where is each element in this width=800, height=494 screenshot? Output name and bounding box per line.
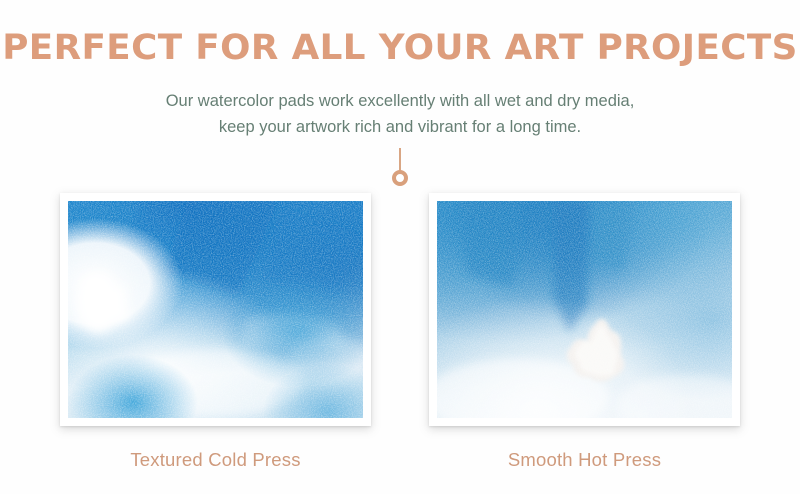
sample-gallery: Textured Cold Press: [0, 193, 800, 471]
photo-frame-left: [60, 193, 371, 426]
divider: [0, 148, 800, 186]
watercolor-swatch-cold-press: [68, 201, 363, 418]
watercolor-swatch-hot-press: [437, 201, 732, 418]
promo-banner: PERFECT FOR ALL YOUR ART PROJECTS Our wa…: [0, 0, 800, 494]
ring-divider-icon: [392, 170, 408, 186]
card-caption-hot-press: Smooth Hot Press: [429, 449, 740, 471]
subtitle: Our watercolor pads work excellently wit…: [0, 88, 800, 140]
divider-stem-icon: [399, 148, 400, 171]
subtitle-line-2: keep your artwork rich and vibrant for a…: [0, 114, 800, 140]
card-smooth-hot-press: Smooth Hot Press: [429, 193, 740, 471]
photo-frame-right: [429, 193, 740, 426]
subtitle-line-1: Our watercolor pads work excellently wit…: [0, 88, 800, 114]
card-caption-cold-press: Textured Cold Press: [60, 449, 371, 471]
card-textured-cold-press: Textured Cold Press: [60, 193, 371, 471]
page-title: PERFECT FOR ALL YOUR ART PROJECTS: [0, 28, 800, 68]
